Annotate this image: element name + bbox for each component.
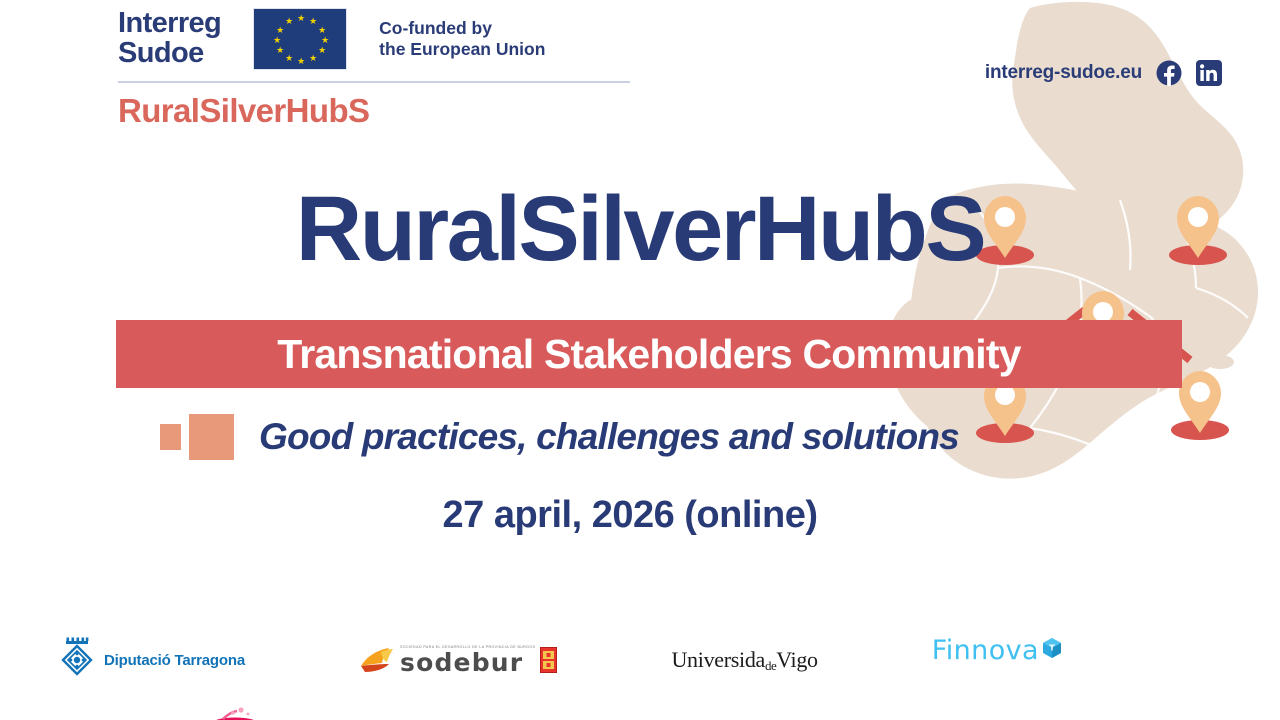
tagline-row: Good practices, challenges and solutions <box>160 414 959 460</box>
sodebur-mark-icon <box>359 646 395 674</box>
banner-text: Transnational Stakeholders Community <box>277 334 1021 375</box>
interreg-word: Interreg <box>118 7 221 39</box>
facebook-icon[interactable] <box>1156 60 1182 86</box>
finnova-cube-icon <box>1041 637 1063 659</box>
decorative-square-small <box>160 424 181 450</box>
partner-logo-diputacio-tarragona[interactable]: Diputació Tarragona <box>57 637 245 683</box>
banner: Transnational Stakeholders Community <box>116 320 1182 388</box>
eu-caption-line-1: Co-funded by <box>379 18 492 38</box>
tarragona-label: Diputació Tarragona <box>104 652 245 669</box>
partner-logos: Diputació Tarragona SOCIEDAD PARA EL DES… <box>0 634 1120 686</box>
eu-flag-icon: ★ ★ ★ ★ ★ ★ ★ ★ ★ ★ ★ ★ <box>253 8 347 70</box>
poster-canvas: Interreg Sudoe ★ ★ ★ ★ ★ ★ ★ ★ ★ ★ ★ ★ C… <box>0 0 1280 720</box>
website-and-social: interreg-sudoe.eu <box>985 60 1222 86</box>
uvigo-label-part-1: Universida <box>671 647 765 672</box>
eu-funding-caption: Co-funded by the European Union <box>379 18 545 61</box>
header-divider <box>118 81 630 83</box>
partner-logo-sodebur[interactable]: SOCIEDAD PARA EL DESARROLLO DE LA PROVIN… <box>359 637 557 683</box>
burgos-shield-icon <box>540 647 557 673</box>
event-date-text: 27 april, 2026 (online) <box>443 494 818 537</box>
finnova-label: Finnova <box>932 637 1039 664</box>
cropped-bottom-logo <box>208 706 264 720</box>
partner-logo-universidade-vigo[interactable]: UniversidadeVigo <box>671 637 817 683</box>
tagline: Good practices, challenges and solutions <box>259 416 959 458</box>
uvigo-label: UniversidadeVigo <box>671 647 817 674</box>
event-date: 27 april, 2026 (online) <box>0 494 1280 537</box>
sodebur-label: sodebur <box>400 650 523 675</box>
sudoe-word: Sudoe <box>118 39 221 69</box>
tarragona-crown-icon <box>57 637 97 683</box>
logo-row: Interreg Sudoe ★ ★ ★ ★ ★ ★ ★ ★ ★ ★ ★ ★ C… <box>118 8 630 70</box>
decorative-square-large <box>189 414 234 460</box>
header-logo-block: Interreg Sudoe ★ ★ ★ ★ ★ ★ ★ ★ ★ ★ ★ ★ C… <box>118 8 630 130</box>
interreg-sudoe-logo: Interreg Sudoe <box>118 9 221 68</box>
project-brand-name: RuralSilverHubS <box>118 92 630 130</box>
linkedin-icon[interactable] <box>1196 60 1222 86</box>
page-title: RuralSilverHubS <box>0 183 1280 275</box>
website-url[interactable]: interreg-sudoe.eu <box>985 62 1142 84</box>
uvigo-label-part-2: de <box>765 658 776 673</box>
sodebur-text-block: SOCIEDAD PARA EL DESARROLLO DE LA PROVIN… <box>400 645 535 675</box>
partner-logo-finnova[interactable]: Finnova <box>932 637 1063 683</box>
eu-caption-line-2: the European Union <box>379 39 545 60</box>
uvigo-label-part-3: Vigo <box>776 647 817 672</box>
